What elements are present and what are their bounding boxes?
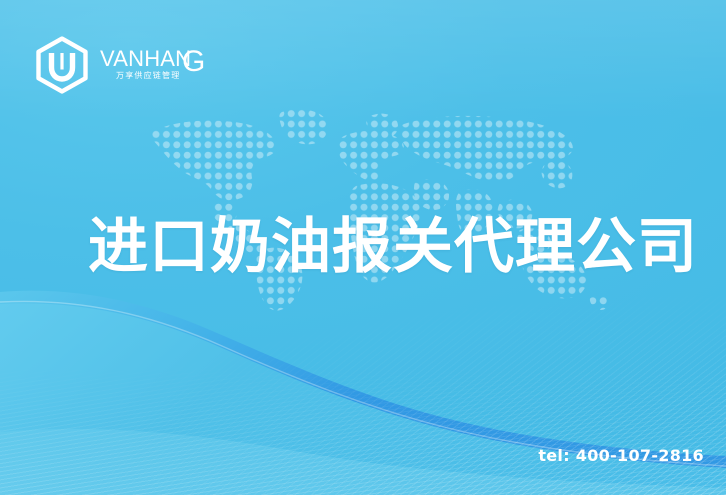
logo-wordmark-text: VANHAN bbox=[100, 46, 191, 71]
logo-wordmark-block: VANHAN G 万享供应链管理 bbox=[100, 45, 212, 85]
logo-subtitle-cn: 万享供应链管理 bbox=[116, 70, 180, 80]
promo-banner: VANHAN G 万享供应链管理 进口奶油报关代理公司 tel: 400-107… bbox=[0, 0, 726, 495]
logo-wordmark-g: G bbox=[182, 46, 205, 78]
company-logo[interactable]: VANHAN G 万享供应链管理 bbox=[33, 36, 212, 94]
page-title: 进口奶油报关代理公司 bbox=[88, 216, 648, 278]
hexagon-u-mark-icon bbox=[33, 36, 91, 94]
telephone-label[interactable]: tel: 400-107-2816 bbox=[538, 446, 704, 465]
